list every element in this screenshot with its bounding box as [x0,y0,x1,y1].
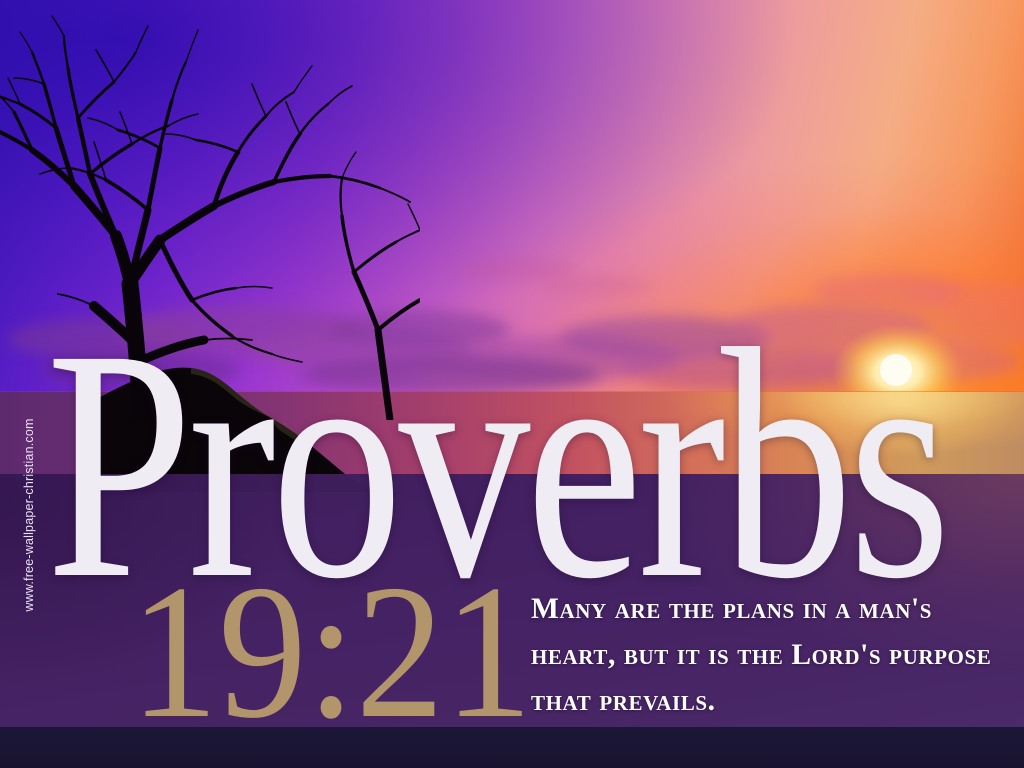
verse-reference: 19:21 [130,556,532,748]
watermark-url: www.free-wallpaper-christian.com [22,400,36,630]
verse-text: Many are the plans in a man's heart, but… [531,586,1001,724]
wallpaper-canvas: Proverbs 19:21 Many are the plans in a m… [0,0,1024,768]
cloud-puff [455,258,575,280]
bottom-dark-band [0,727,1024,768]
